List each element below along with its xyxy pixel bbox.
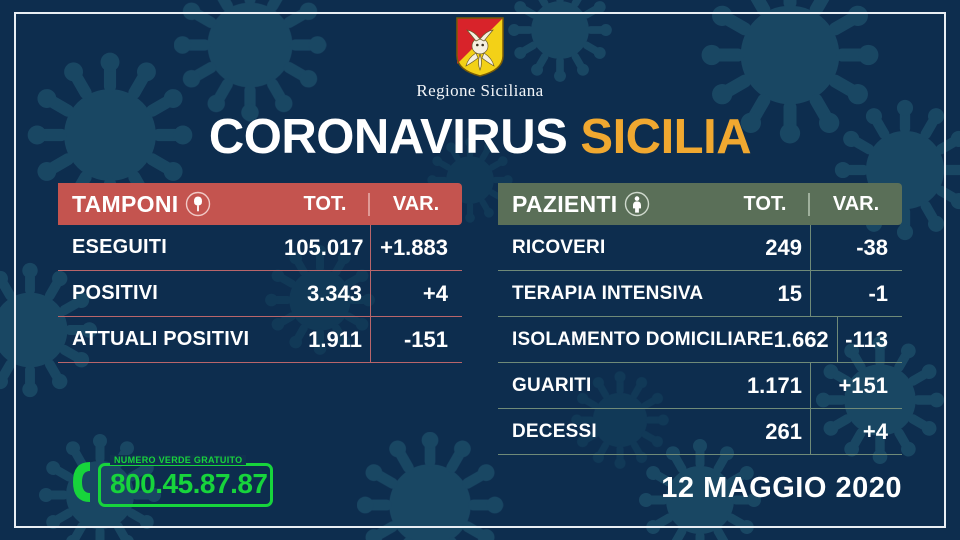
row-variation: -151 (370, 317, 462, 362)
table-pazienti-title: PAZIENTI (512, 191, 617, 218)
row-total: 105.017 (284, 235, 370, 261)
phone-badge-label: NUMERO VERDE GRATUITO (110, 455, 246, 465)
row-label: POSITIVI (58, 282, 158, 305)
row-variation: -113 (837, 317, 902, 362)
table-tamponi-col-var: VAR. (368, 193, 462, 216)
table-row: ISOLAMENTO DOMICILIARE 1.662 -113 (498, 317, 902, 363)
row-variation: +1.883 (370, 225, 462, 270)
title-accent: SICILIA (580, 110, 751, 164)
row-total: 1.171 (724, 373, 810, 399)
trinacria-shield-icon (454, 16, 506, 78)
row-label: ISOLAMENTO DOMICILIARE (498, 329, 774, 351)
row-variation: +4 (810, 409, 902, 454)
row-label: ESEGUITI (58, 236, 167, 259)
row-variation: +151 (810, 363, 902, 408)
region-label: Regione Siciliana (0, 81, 960, 101)
table-row: ATTUALI POSITIVI 1.911 -151 (58, 317, 462, 363)
row-label: DECESSI (498, 421, 597, 443)
toll-free-number-badge[interactable]: NUMERO VERDE GRATUITO 800.45.87.87 (58, 455, 273, 507)
phone-icon (66, 459, 100, 505)
table-row: RICOVERI 249 -38 (498, 225, 902, 271)
row-total: 1.662 (774, 327, 837, 353)
row-total: 249 (724, 235, 810, 261)
row-total: 15 (724, 281, 810, 307)
table-row: GUARITI 1.171 +151 (498, 363, 902, 409)
title-main: CORONAVIRUS (209, 110, 567, 164)
page-title: CORONAVIRUS SICILIA (0, 113, 960, 162)
person-icon (624, 191, 650, 217)
table-row: DECESSI 261 +4 (498, 409, 902, 455)
row-total: 3.343 (284, 281, 370, 307)
table-tamponi: TAMPONI TOT. VAR. ESEGUITI 105.017 +1.88… (58, 183, 462, 363)
table-tamponi-title: TAMPONI (72, 191, 178, 218)
region-emblem-block: Regione Siciliana (0, 16, 960, 101)
row-label: GUARITI (498, 375, 592, 397)
table-pazienti-header: PAZIENTI TOT. VAR. (498, 183, 902, 225)
table-row: POSITIVI 3.343 +4 (58, 271, 462, 317)
table-tamponi-col-tot: TOT. (282, 193, 368, 216)
phone-number[interactable]: 800.45.87.87 (110, 468, 268, 500)
row-label: RICOVERI (498, 237, 605, 259)
infographic-poster: Regione Siciliana CORONAVIRUS SICILIA TA… (0, 0, 960, 540)
table-row: ESEGUITI 105.017 +1.883 (58, 225, 462, 271)
row-total: 1.911 (284, 327, 370, 353)
row-variation: -38 (810, 225, 902, 270)
table-tamponi-header: TAMPONI TOT. VAR. (58, 183, 462, 225)
row-variation: +4 (370, 271, 462, 316)
table-row: TERAPIA INTENSIVA 15 -1 (498, 271, 902, 317)
row-variation: -1 (810, 271, 902, 316)
row-label: ATTUALI POSITIVI (58, 328, 249, 351)
report-date: 12 MAGGIO 2020 (661, 472, 902, 505)
row-total: 261 (724, 419, 810, 445)
table-pazienti: PAZIENTI TOT. VAR. RICOVERI 249 -38 TERA… (498, 183, 902, 455)
swab-icon (185, 191, 211, 217)
row-label: TERAPIA INTENSIVA (498, 283, 703, 305)
table-pazienti-col-var: VAR. (808, 193, 902, 216)
table-pazienti-col-tot: TOT. (722, 193, 808, 216)
